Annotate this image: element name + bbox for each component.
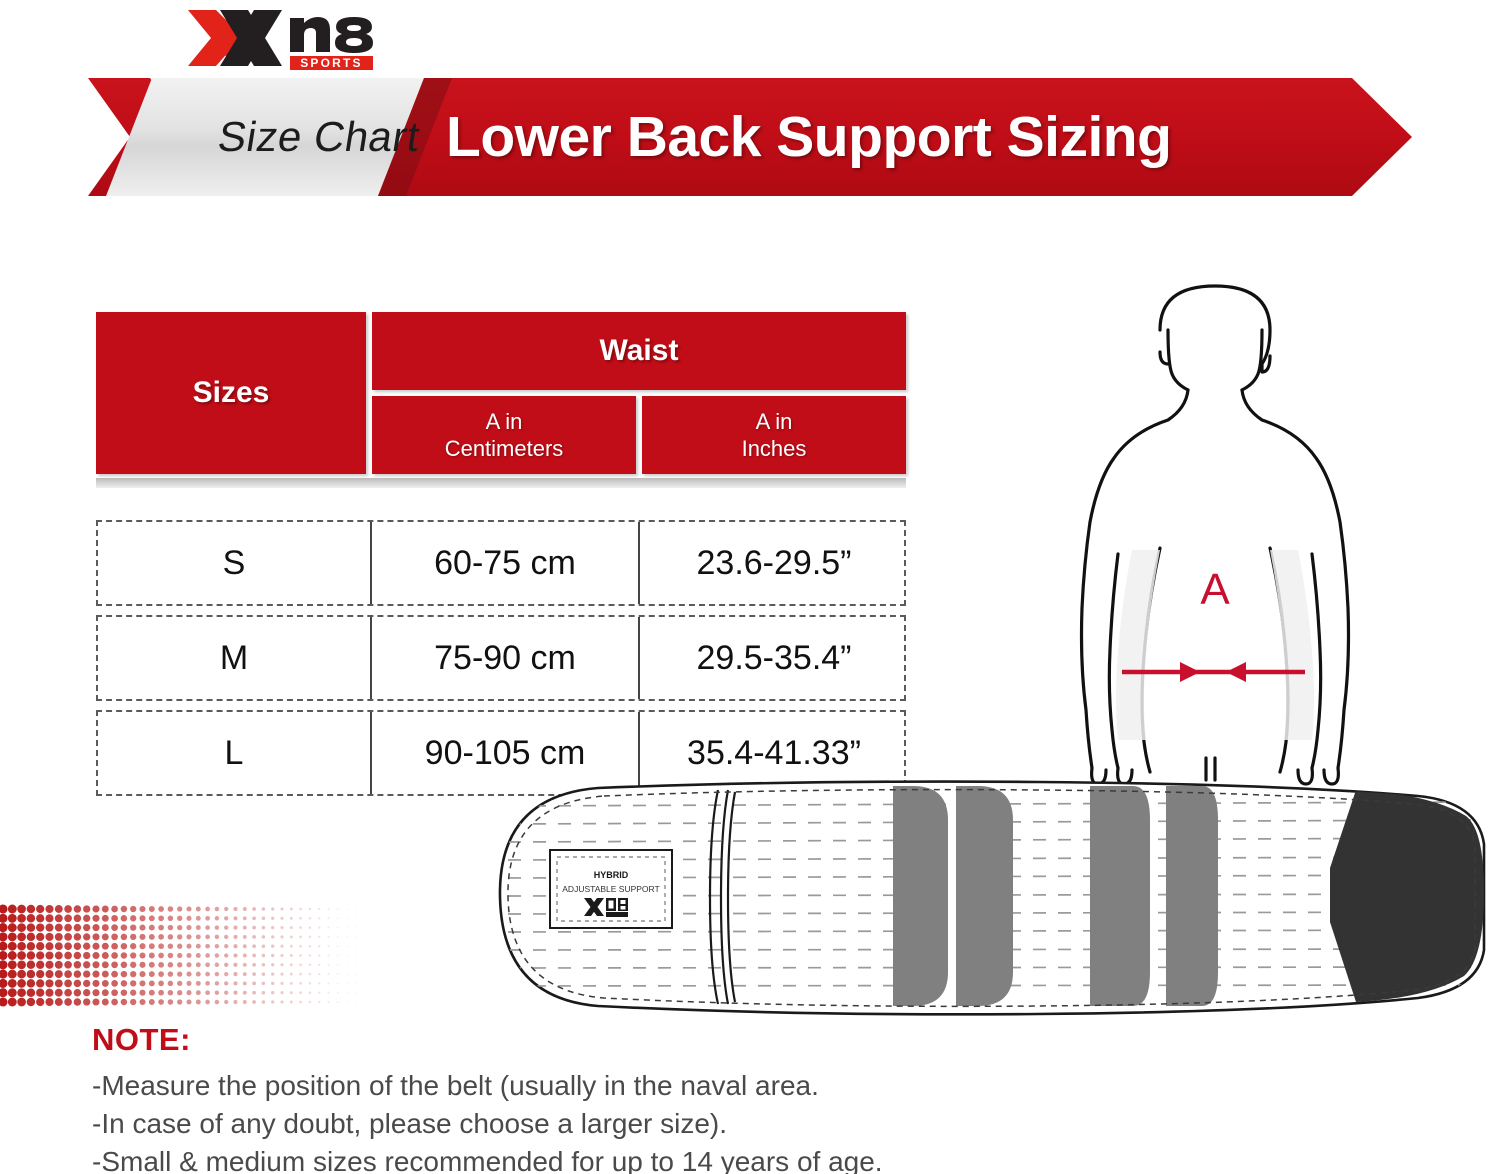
cell-size: M — [98, 617, 370, 699]
arm-shade-left — [1116, 550, 1160, 740]
note-line: -Measure the position of the belt (usual… — [92, 1067, 1092, 1105]
brand-logo: SPORTS — [186, 4, 401, 72]
lower-back-support-belt-icon: HYBRID ADJUSTABLE SUPPORT — [478, 772, 1500, 1022]
measurement-figure: A — [1040, 272, 1390, 792]
table-body: S 60-75 cm 23.6-29.5” M 75-90 cm 29.5-35… — [96, 520, 906, 805]
cell-size: L — [98, 712, 370, 794]
cell-size: S — [98, 522, 370, 604]
waist-measure-arrow-icon — [1122, 662, 1305, 682]
measure-label-A: A — [1200, 565, 1230, 614]
header-shadow-bar — [96, 478, 906, 488]
cell-inches: 23.6-29.5” — [638, 522, 908, 604]
header-cm-line2: Centimeters — [445, 435, 564, 463]
cell-centimeters: 75-90 cm — [370, 617, 638, 699]
size-chart-page: SPORTS — [0, 0, 1500, 1174]
human-torso-outline-icon: A — [1040, 272, 1390, 792]
table-header: Sizes Waist A in Centimeters A in Inches — [96, 312, 906, 480]
header-in-line1: A in — [756, 408, 793, 436]
header-cell-sizes: Sizes — [96, 312, 366, 474]
belt-label-line1: HYBRID — [594, 870, 629, 880]
halftone-dot-gradient-icon — [0, 903, 400, 1013]
note-title: NOTE: — [92, 1022, 1092, 1058]
belt-label-logo-icon — [584, 898, 628, 917]
halftone-decoration — [0, 903, 400, 1013]
xn8-sports-logo-icon: SPORTS — [186, 4, 401, 72]
arm-shade-right — [1270, 550, 1314, 740]
cell-centimeters: 60-75 cm — [370, 522, 638, 604]
header-banner: Size Chart Lower Back Support Sizing — [88, 78, 1412, 196]
note-line: -In case of any doubt, please choose a l… — [92, 1105, 1092, 1143]
table-row: S 60-75 cm 23.6-29.5” — [96, 520, 906, 606]
header-cell-waist: Waist — [372, 312, 906, 390]
belt-label: HYBRID ADJUSTABLE SUPPORT — [550, 850, 672, 928]
belt-velcro-panel — [1330, 790, 1484, 1002]
size-table: Sizes Waist A in Centimeters A in Inches… — [96, 312, 906, 480]
header-cell-inches: A in Inches — [642, 396, 906, 474]
header-in-line2: Inches — [742, 435, 807, 463]
banner-badge-label: Size Chart — [165, 78, 474, 196]
cell-inches: 29.5-35.4” — [638, 617, 908, 699]
header-cell-centimeters: A in Centimeters — [372, 396, 636, 474]
product-illustration: HYBRID ADJUSTABLE SUPPORT — [478, 772, 1500, 1022]
note-block: NOTE: -Measure the position of the belt … — [92, 1022, 1092, 1174]
note-line: -Small & medium sizes recommended for up… — [92, 1143, 1092, 1174]
header-cm-line1: A in — [486, 408, 523, 436]
table-row: M 75-90 cm 29.5-35.4” — [96, 615, 906, 701]
belt-label-line2: ADJUSTABLE SUPPORT — [562, 884, 659, 894]
svg-text:SPORTS: SPORTS — [300, 56, 363, 70]
page-title: Lower Back Support Sizing — [446, 78, 1286, 196]
